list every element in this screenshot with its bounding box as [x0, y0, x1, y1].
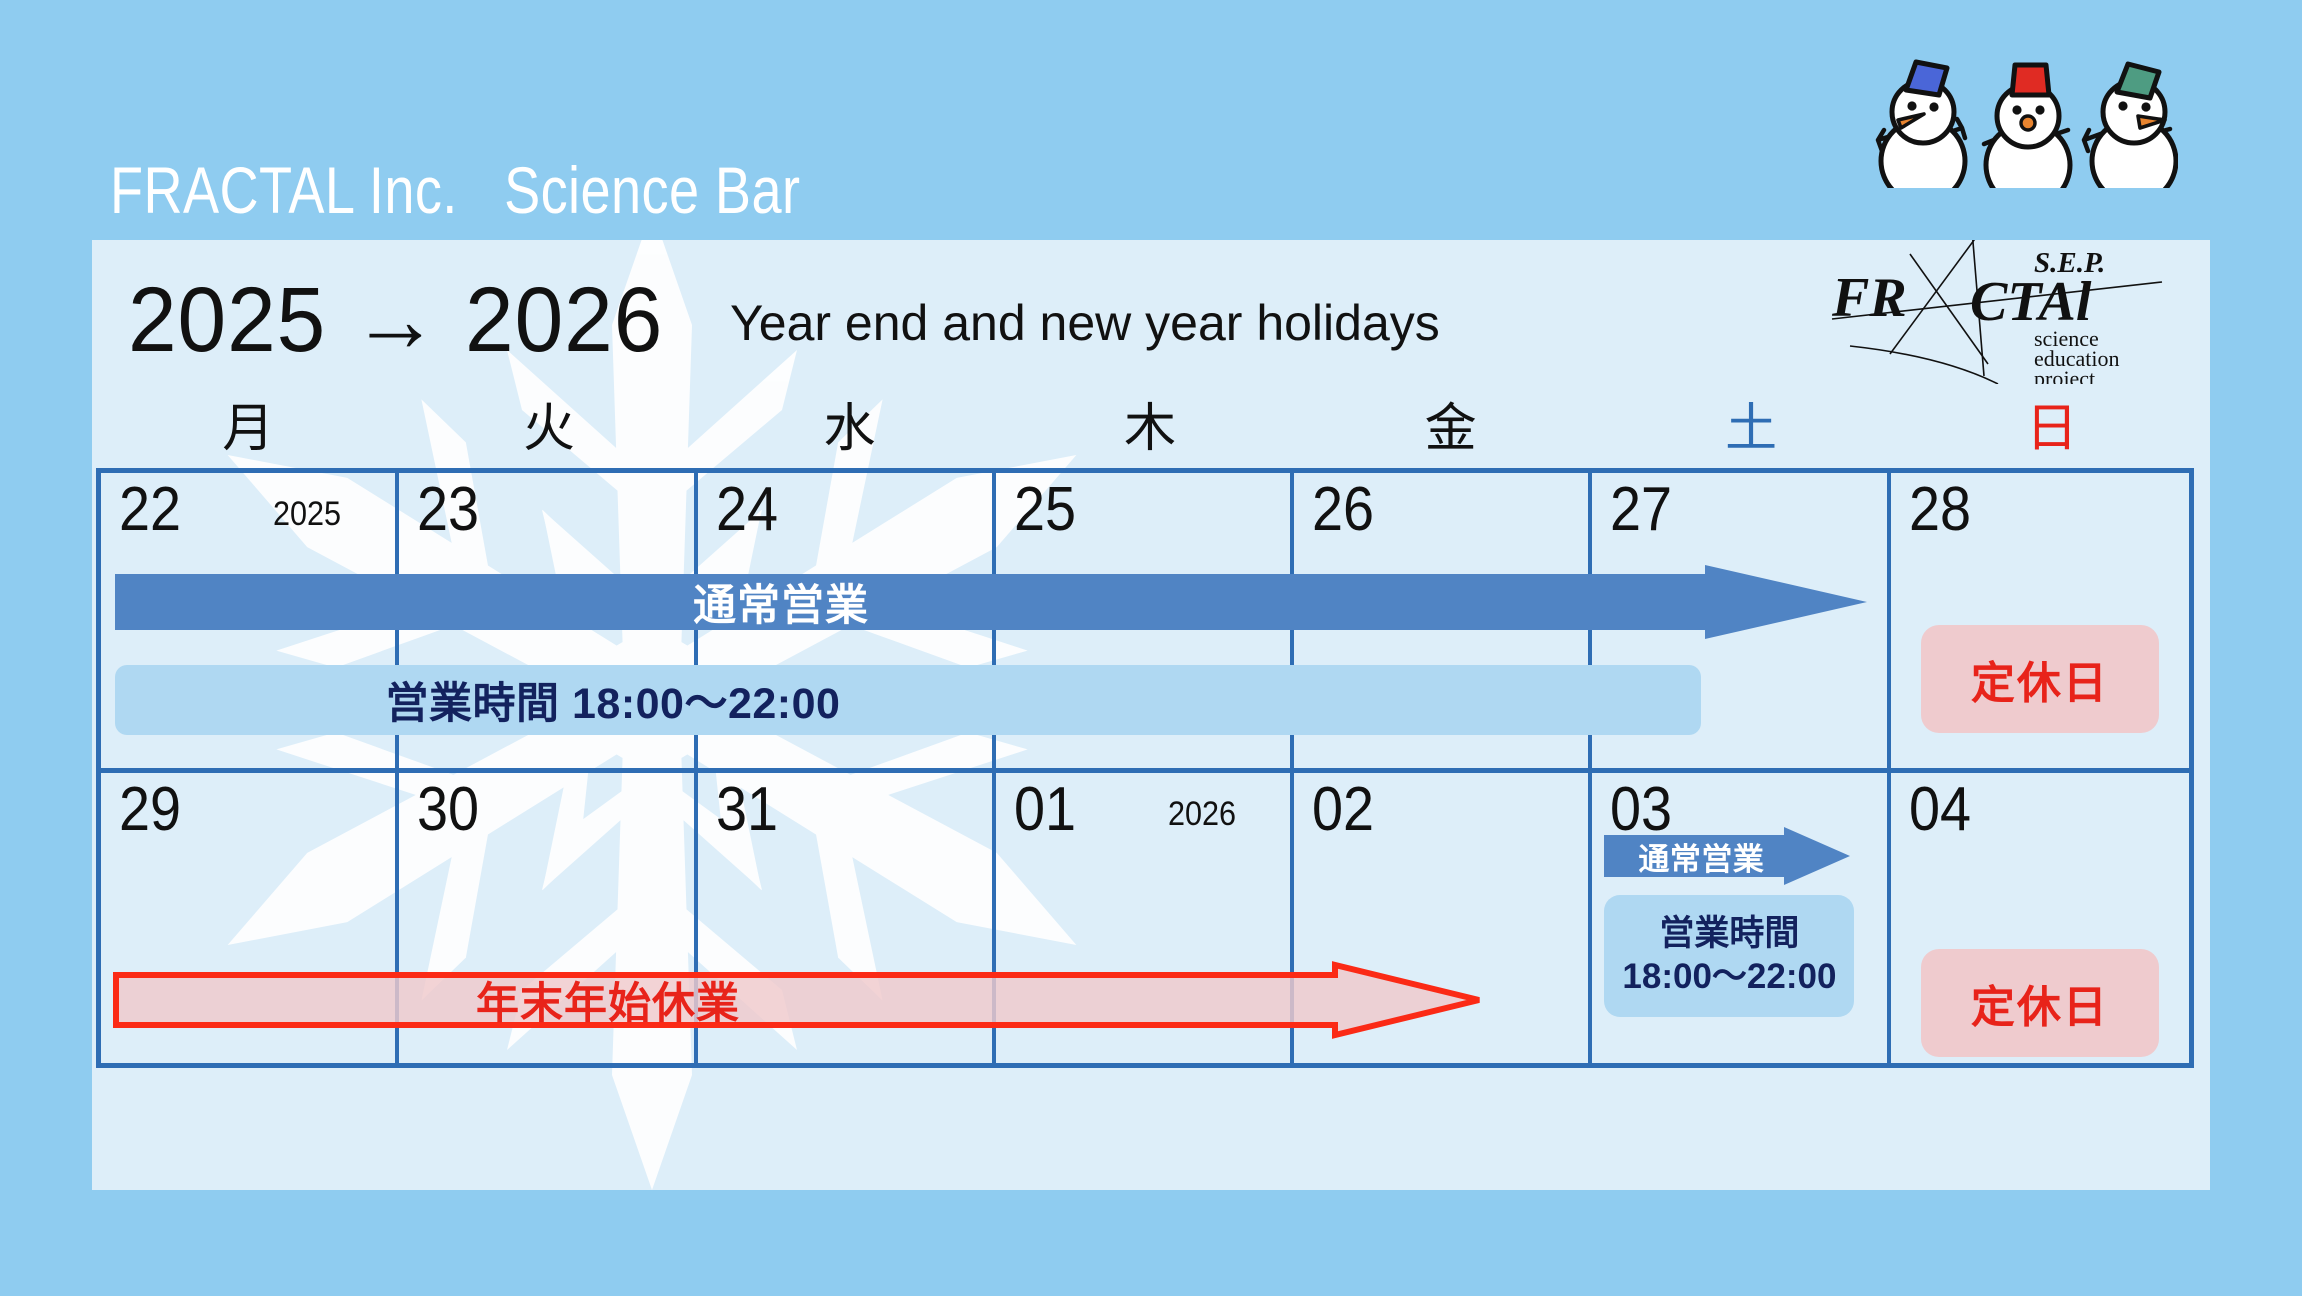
- day-number: 27: [1610, 479, 1672, 541]
- logo-name-left: FR: [1831, 267, 1907, 329]
- day-cell-22[interactable]: 22 2025: [101, 473, 399, 768]
- logo-name-right: CTAl: [1970, 271, 2092, 333]
- day-cell-26[interactable]: 26: [1294, 473, 1592, 768]
- snowman-green: [2092, 64, 2176, 188]
- weekday-wed: 水: [699, 398, 1000, 460]
- day-number: 30: [417, 779, 479, 841]
- open-arrow-jan3: 通常営業: [1604, 827, 1850, 885]
- snowman-blue: [1881, 62, 1965, 188]
- hours-line-2: 18:00〜22:00: [1622, 956, 1836, 999]
- day-cell-04[interactable]: 04 定休日: [1891, 773, 2189, 1063]
- day-cell-24[interactable]: 24: [698, 473, 996, 768]
- day-cell-02[interactable]: 02: [1294, 773, 1592, 1063]
- year-range: 2025 → 2026: [128, 268, 663, 373]
- day-number: 25: [1014, 479, 1076, 541]
- snowman-red: [1986, 65, 2070, 188]
- day-number: 02: [1312, 779, 1374, 841]
- year-tag: 2025: [273, 495, 341, 534]
- year-tag: 2026: [1168, 795, 1236, 834]
- weekday-sat: 土: [1601, 398, 1902, 460]
- weekday-header: 月 火 水 木 金 土 日: [98, 398, 2202, 460]
- logo-sep: S.E.P.: [2034, 247, 2105, 279]
- day-cell-03[interactable]: 03 通常営業 営業時間 18:00〜22:00: [1592, 773, 1890, 1063]
- weekday-thu: 木: [1000, 398, 1301, 460]
- notice-panel: 2025 → 2026 Year end and new year holida…: [92, 240, 2210, 1190]
- day-number: 23: [417, 479, 479, 541]
- weekday-tue: 火: [399, 398, 700, 460]
- day-number: 01: [1014, 779, 1076, 841]
- logo-tagline-3: project: [2034, 366, 2095, 384]
- status-badge-closed: 定休日: [1921, 625, 2159, 733]
- snowmen-icon: [1838, 48, 2178, 188]
- day-number: 22: [119, 479, 181, 541]
- day-cell-27[interactable]: 27: [1592, 473, 1890, 768]
- page-title: FRACTAL Inc. Science Bar: [110, 152, 800, 228]
- calendar-row-week2: 29 30 31 01 2026 02 03 通常営業: [101, 768, 2189, 1063]
- day-cell-30[interactable]: 30: [399, 773, 697, 1063]
- year-heading-row: 2025 → 2026 Year end and new year holida…: [110, 262, 1810, 372]
- day-number: 04: [1909, 779, 1971, 841]
- day-cell-25[interactable]: 25: [996, 473, 1294, 768]
- day-cell-28[interactable]: 28 定休日: [1891, 473, 2189, 768]
- day-cell-29[interactable]: 29: [101, 773, 399, 1063]
- calendar-row-week1: 22 2025 23 24 25 26 27 28 定休日: [101, 473, 2189, 768]
- open-arrow-label: 通常営業: [1604, 827, 1850, 885]
- day-number: 24: [716, 479, 778, 541]
- fractal-logo: FR CTAl S.E.P. science education project: [1812, 240, 2182, 384]
- day-cell-01[interactable]: 01 2026: [996, 773, 1294, 1063]
- weekday-mon: 月: [98, 398, 399, 460]
- hours-box-jan3: 営業時間 18:00〜22:00: [1604, 895, 1854, 1017]
- year-subtitle: Year end and new year holidays: [730, 294, 1440, 352]
- hours-line-1: 営業時間: [1659, 913, 1799, 956]
- snowmen-decoration: [1838, 48, 2178, 188]
- day-cell-23[interactable]: 23: [399, 473, 697, 768]
- weekday-fri: 金: [1300, 398, 1601, 460]
- day-cell-31[interactable]: 31: [698, 773, 996, 1063]
- day-number: 29: [119, 779, 181, 841]
- day-number: 28: [1909, 479, 1971, 541]
- day-number: 31: [716, 779, 778, 841]
- calendar-grid: 22 2025 23 24 25 26 27 28 定休日: [96, 468, 2194, 1068]
- day-number: 26: [1312, 479, 1374, 541]
- status-badge-closed: 定休日: [1921, 949, 2159, 1057]
- weekday-sun: 日: [1901, 398, 2202, 460]
